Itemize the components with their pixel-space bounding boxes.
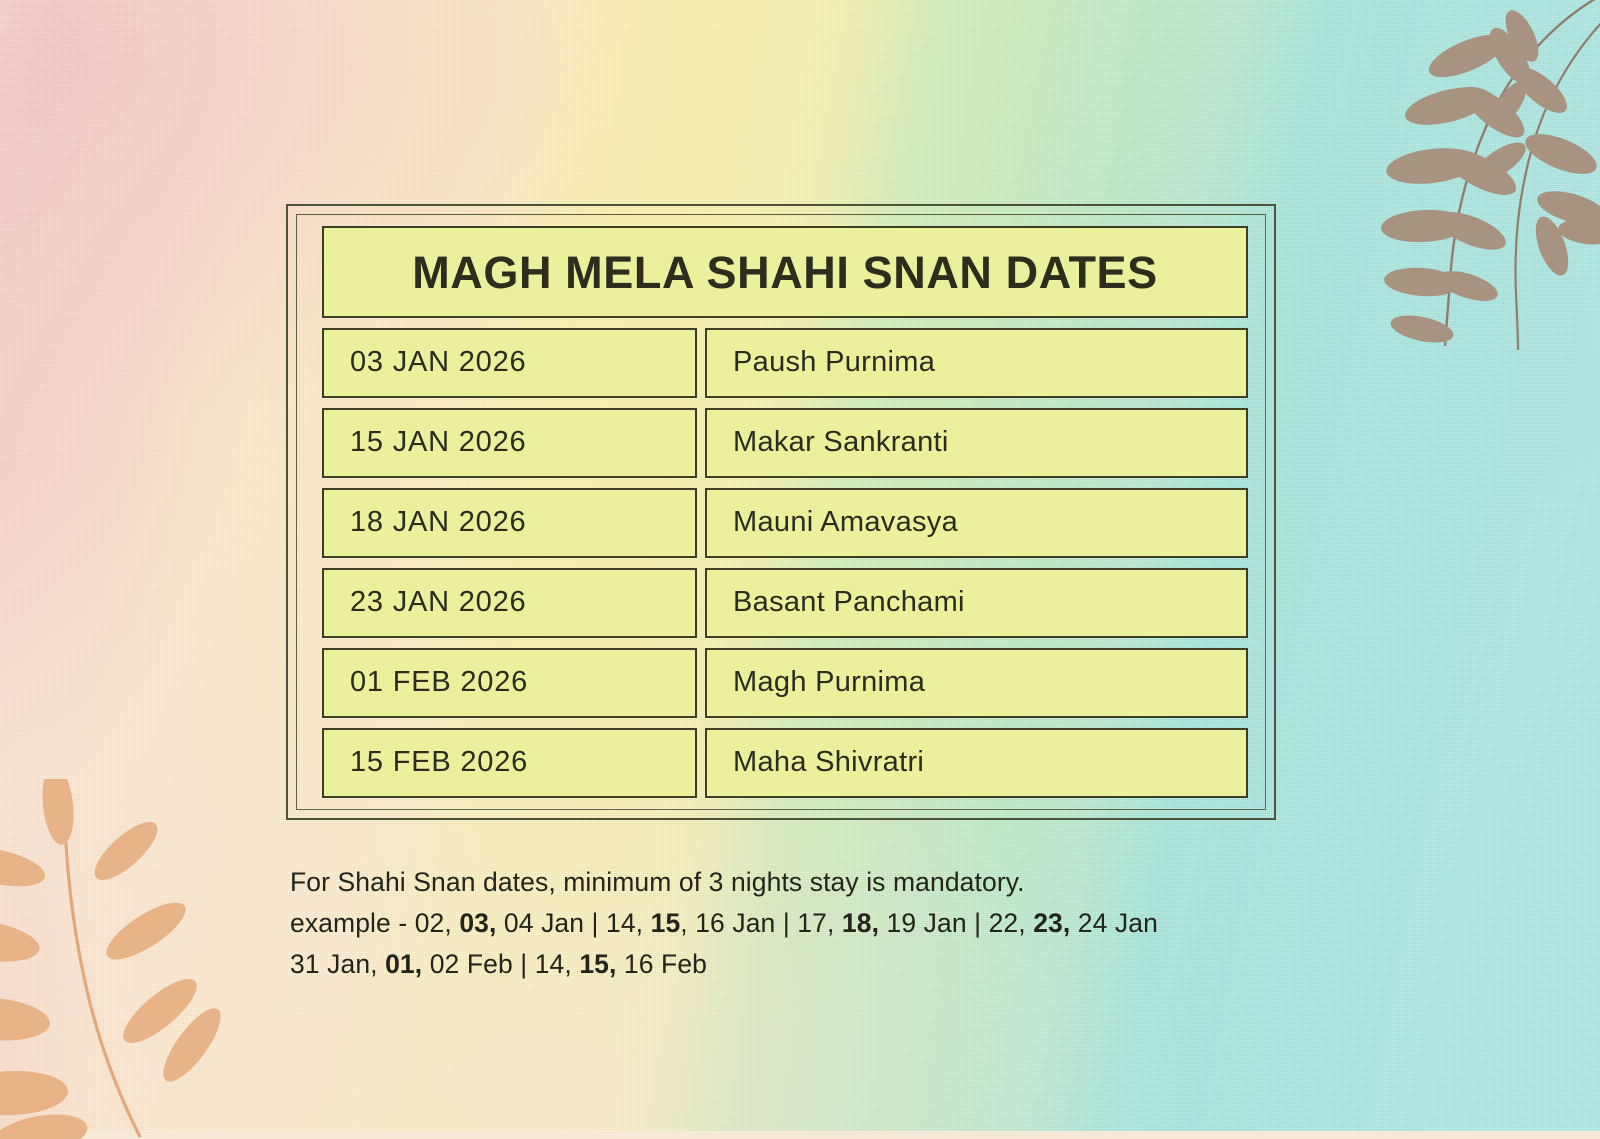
table-cell-event: Paush Purnima [705, 328, 1248, 398]
footer-l2-bold-1: 03, [459, 908, 496, 938]
table-cell-event: Basant Panchami [705, 568, 1248, 638]
footer-l3-text-3: 16 Feb [616, 949, 707, 979]
date-value: 18 JAN 2026 [350, 507, 526, 539]
footer-l3-bold-1: 01, [385, 949, 422, 979]
table-cell-event: Makar Sankranti [705, 408, 1248, 478]
footer-l3-text-1: 31 Jan, [290, 949, 385, 979]
table-row: 18 JAN 2026 Mauni Amavasya [322, 488, 1248, 558]
footer-l2-text-5: 24 Jan [1070, 908, 1158, 938]
footer-line-1: For Shahi Snan dates, minimum of 3 night… [290, 862, 1440, 903]
event-value: Magh Purnima [733, 667, 925, 699]
date-value: 01 FEB 2026 [350, 667, 528, 699]
table-cell-event: Maha Shivratri [705, 728, 1248, 798]
table-cell-date: 03 JAN 2026 [322, 328, 697, 398]
footer-l2-bold-4: 23, [1033, 908, 1070, 938]
event-value: Makar Sankranti [733, 427, 949, 459]
footer-line-3: 31 Jan, 01, 02 Feb | 14, 15, 16 Feb [290, 944, 1440, 985]
table-row: 23 JAN 2026 Basant Panchami [322, 568, 1248, 638]
footer-l2-text-1: example - 02, [290, 908, 459, 938]
table-row: 15 JAN 2026 Makar Sankranti [322, 408, 1248, 478]
shahi-snan-dates-table: MAGH MELA SHAHI SNAN DATES 03 JAN 2026 P… [322, 226, 1248, 798]
table-row: 01 FEB 2026 Magh Purnima [322, 648, 1248, 718]
table-cell-date: 15 JAN 2026 [322, 408, 697, 478]
footer-l3-text-2: 02 Feb | 14, [422, 949, 579, 979]
table-cell-date: 15 FEB 2026 [322, 728, 697, 798]
footer-l2-bold-3: 18, [842, 908, 879, 938]
page-title: MAGH MELA SHAHI SNAN DATES [412, 250, 1158, 295]
table-cell-date: 18 JAN 2026 [322, 488, 697, 558]
poster-title-cell: MAGH MELA SHAHI SNAN DATES [322, 226, 1248, 318]
table-row: 15 FEB 2026 Maha Shivratri [322, 728, 1248, 798]
date-value: 15 JAN 2026 [350, 427, 526, 459]
table-cell-event: Magh Purnima [705, 648, 1248, 718]
date-value: 23 JAN 2026 [350, 587, 526, 619]
date-value: 03 JAN 2026 [350, 347, 526, 379]
footer-line-2: example - 02, 03, 04 Jan | 14, 15, 16 Ja… [290, 903, 1440, 944]
event-value: Basant Panchami [733, 587, 965, 619]
table-cell-event: Mauni Amavasya [705, 488, 1248, 558]
event-value: Paush Purnima [733, 347, 935, 379]
footer-note: For Shahi Snan dates, minimum of 3 night… [290, 862, 1440, 985]
footer-l2-bold-2: 15 [651, 908, 681, 938]
footer-l3-bold-2: 15, [579, 949, 616, 979]
footer-l2-text-2: 04 Jan | 14, [496, 908, 650, 938]
event-value: Mauni Amavasya [733, 507, 958, 539]
table-cell-date: 23 JAN 2026 [322, 568, 697, 638]
table-row: 03 JAN 2026 Paush Purnima [322, 328, 1248, 398]
footer-l2-text-3: , 16 Jan | 17, [680, 908, 842, 938]
date-value: 15 FEB 2026 [350, 747, 528, 779]
table-cell-date: 01 FEB 2026 [322, 648, 697, 718]
event-value: Maha Shivratri [733, 747, 924, 779]
footer-l2-text-4: 19 Jan | 22, [879, 908, 1033, 938]
